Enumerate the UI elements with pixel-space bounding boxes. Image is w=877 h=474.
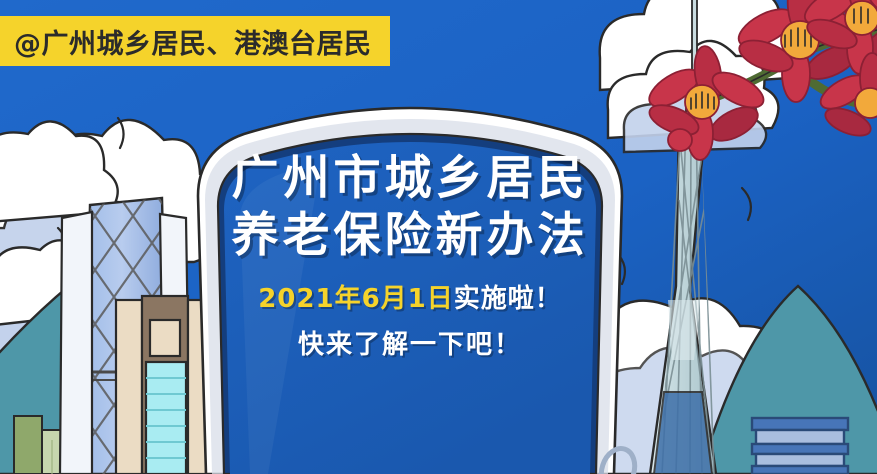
blue-banded-building bbox=[752, 418, 848, 474]
audience-tag-banner: @广州城乡居民、港澳台居民 bbox=[0, 16, 390, 66]
poster-root: @广州城乡居民、港澳台居民 广州市城乡居民 养老保险新办法 2021年6月1日实… bbox=[0, 0, 877, 474]
audience-tag-label: @广州城乡居民、港澳台居民 bbox=[14, 22, 372, 61]
shield-badge bbox=[198, 108, 640, 474]
illustration-scene bbox=[0, 0, 877, 474]
